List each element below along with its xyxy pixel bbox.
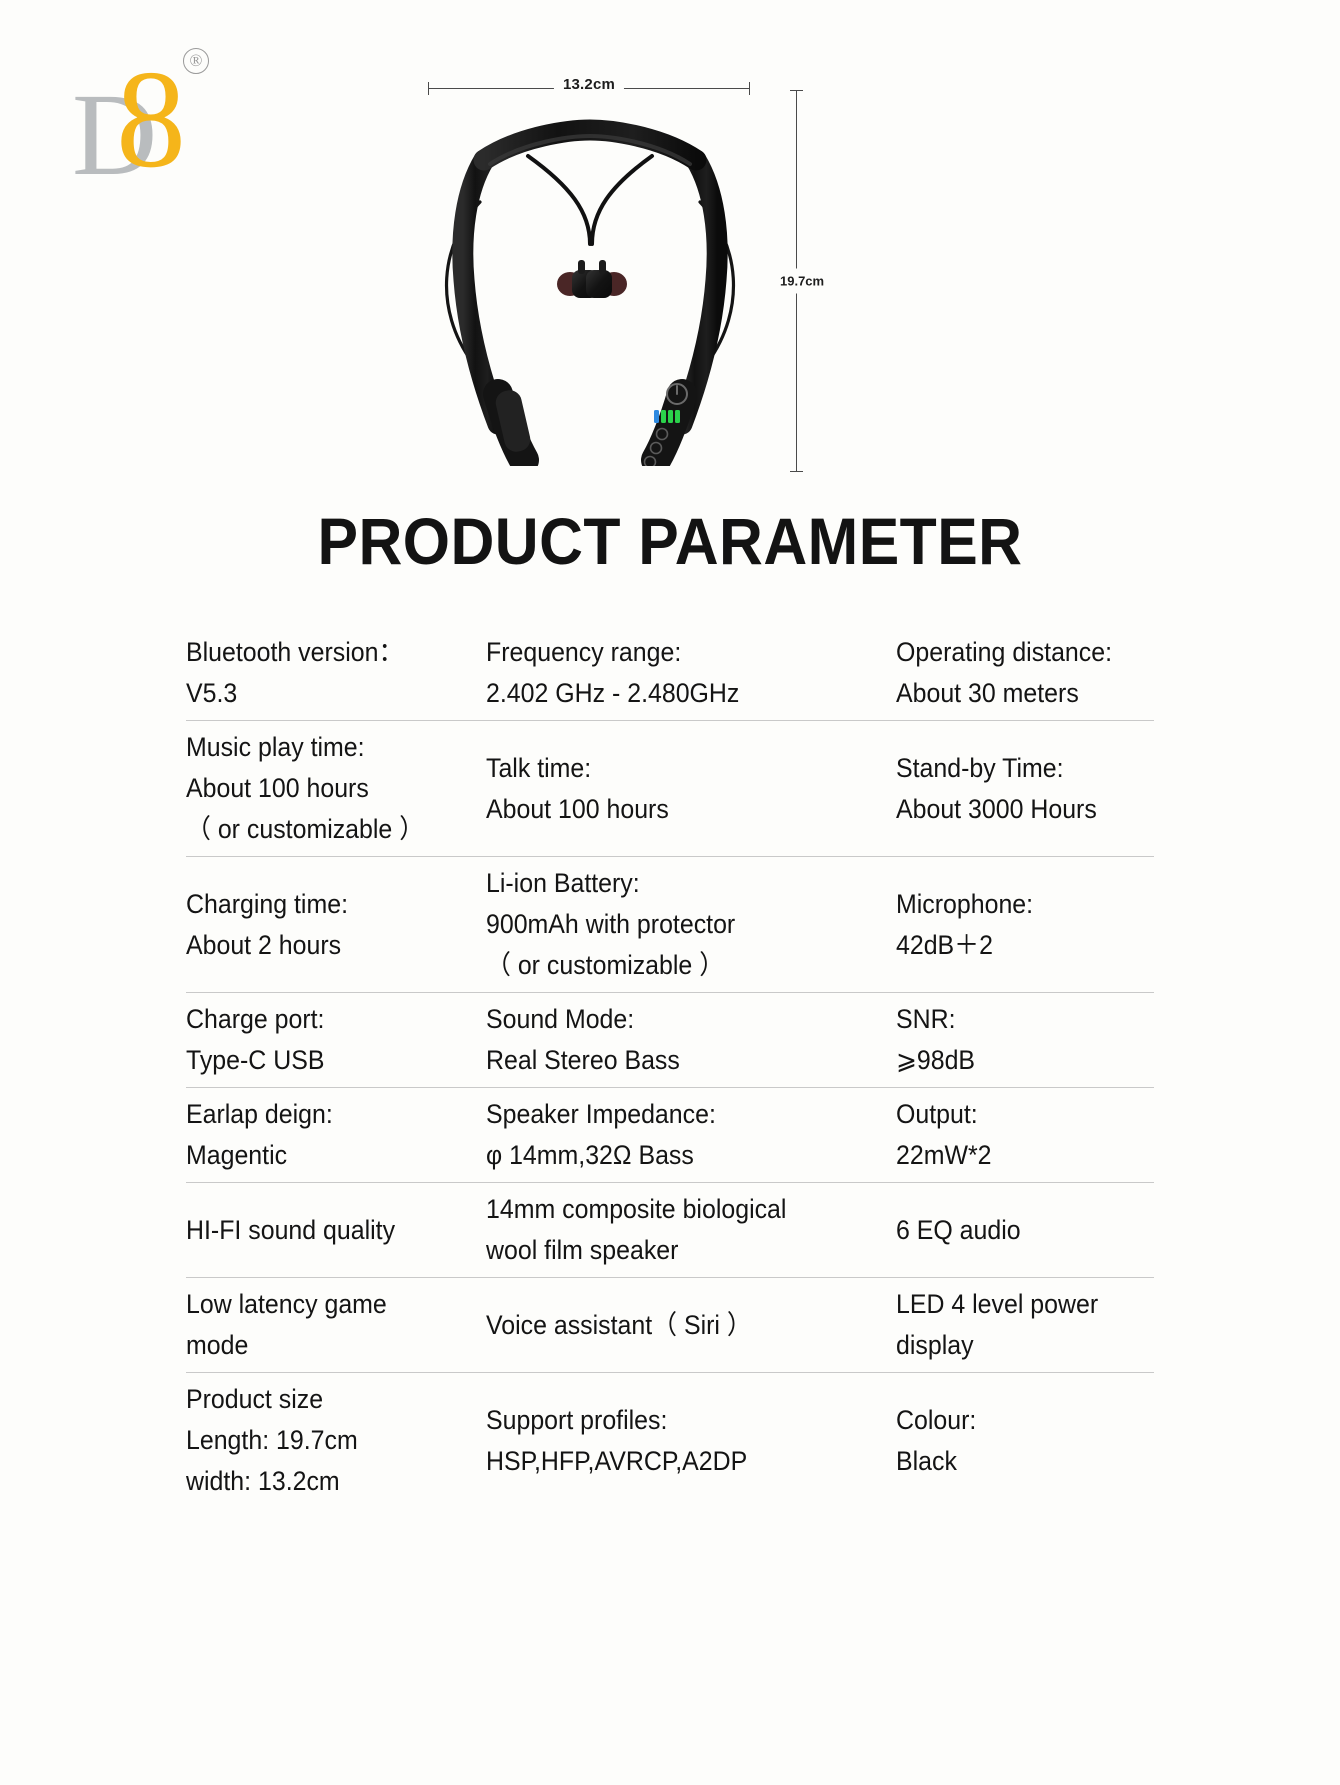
spec-value: Black <box>896 1441 1125 1482</box>
product-image-area: 13.2cm 19.7cm <box>400 60 830 480</box>
spec-label: 14mm composite biological <box>486 1189 858 1230</box>
spec-music-play-time: Music play time: About 100 hours （ or cu… <box>186 727 468 850</box>
spec-label: 6 EQ audio <box>896 1210 1125 1251</box>
dimension-height-label: 19.7cm <box>780 269 824 294</box>
table-row: Music play time: About 100 hours （ or cu… <box>186 720 1154 856</box>
spec-label: Operating distance: <box>896 632 1125 673</box>
spec-value: display <box>896 1325 1125 1366</box>
spec-charging-time: Charging time: About 2 hours <box>186 884 468 966</box>
spec-label: Charging time: <box>186 884 455 925</box>
spec-value: About 100 hours <box>186 768 455 809</box>
spec-value: Magentic <box>186 1135 455 1176</box>
spec-label: Talk time: <box>486 748 858 789</box>
spec-sound-mode: Sound Mode: Real Stereo Bass <box>486 999 871 1081</box>
dimension-width-label: 13.2cm <box>554 76 624 93</box>
spec-label: LED 4 level power <box>896 1284 1125 1325</box>
spec-microphone: Microphone: 42dB＋2 <box>896 884 1139 966</box>
product-parameter-sheet: D 8 ® 13.2cm 19.7cm <box>0 0 1340 1785</box>
spec-support-profiles: Support profiles: HSP,HFP,AVRCP,A2DP <box>486 1400 871 1482</box>
spec-value: ⩾98dB <box>896 1040 1125 1081</box>
spec-label: Voice assistant（ Siri ） <box>486 1305 858 1346</box>
spec-eq-audio: 6 EQ audio <box>896 1210 1139 1251</box>
logo-letter-8: 8 <box>116 50 186 190</box>
table-row: Charge port: Type-C USB Sound Mode: Real… <box>186 992 1154 1087</box>
spec-label: Music play time: <box>186 727 455 768</box>
spec-value: 22mW*2 <box>896 1135 1125 1176</box>
spec-label: Sound Mode: <box>486 999 858 1040</box>
spec-colour: Colour: Black <box>896 1400 1139 1482</box>
spec-operating-distance: Operating distance: About 30 meters <box>896 632 1139 714</box>
spec-label: Product size <box>186 1379 455 1420</box>
spec-bluetooth-version: Bluetooth version： V5.3 <box>186 632 468 714</box>
specification-table: Bluetooth version： V5.3 Frequency range:… <box>186 625 1154 1508</box>
spec-voice-assistant: Voice assistant（ Siri ） <box>486 1305 871 1346</box>
table-row: HI-FI sound quality 14mm composite biolo… <box>186 1182 1154 1277</box>
spec-value: 42dB＋2 <box>896 925 1125 966</box>
spec-product-size: Product size Length: 19.7cm width: 13.2c… <box>186 1379 468 1502</box>
table-row: Bluetooth version： V5.3 Frequency range:… <box>186 625 1154 720</box>
spec-output: Output: 22mW*2 <box>896 1094 1139 1176</box>
neckband-headset-icon <box>420 94 760 466</box>
table-row: Charging time: About 2 hours Li-ion Batt… <box>186 856 1154 992</box>
page-title: PRODUCT PARAMETER <box>54 505 1287 577</box>
spec-value-note: （ or customizable ） <box>486 945 858 986</box>
spec-label: Colour: <box>896 1400 1125 1441</box>
spec-low-latency-game-mode: Low latency game mode <box>186 1284 468 1366</box>
registered-trademark-icon: ® <box>183 48 209 74</box>
spec-earlap-design: Earlap deign: Magentic <box>186 1094 468 1176</box>
spec-value-note: width: 13.2cm <box>186 1461 455 1502</box>
brand-logo: D 8 ® <box>68 38 298 188</box>
dimension-height-cap-bottom <box>790 471 803 472</box>
spec-label: Speaker Impedance: <box>486 1094 858 1135</box>
spec-hifi-sound-quality: HI-FI sound quality <box>186 1210 468 1251</box>
spec-talk-time: Talk time: About 100 hours <box>486 748 871 830</box>
spec-snr: SNR: ⩾98dB <box>896 999 1139 1081</box>
table-row: Low latency game mode Voice assistant（ S… <box>186 1277 1154 1372</box>
spec-value: φ 14mm,32Ω Bass <box>486 1135 858 1176</box>
spec-label: Output: <box>896 1094 1125 1135</box>
spec-label: Low latency game <box>186 1284 455 1325</box>
spec-speaker-material: 14mm composite biological wool film spea… <box>486 1189 871 1271</box>
spec-label: Frequency range: <box>486 632 858 673</box>
spec-value: About 30 meters <box>896 673 1125 714</box>
spec-label: Support profiles: <box>486 1400 858 1441</box>
spec-value: V5.3 <box>186 673 455 714</box>
spec-value: 2.402 GHz - 2.480GHz <box>486 673 858 714</box>
spec-value: wool film speaker <box>486 1230 858 1271</box>
spec-label: SNR: <box>896 999 1125 1040</box>
spec-charge-port: Charge port: Type-C USB <box>186 999 468 1081</box>
spec-label: Charge port: <box>186 999 455 1040</box>
dimension-height-cap-top <box>790 90 803 91</box>
spec-value: About 100 hours <box>486 789 858 830</box>
spec-label: Microphone: <box>896 884 1125 925</box>
spec-label: Stand-by Time: <box>896 748 1125 789</box>
spec-led-power-display: LED 4 level power display <box>896 1284 1139 1366</box>
spec-value: HSP,HFP,AVRCP,A2DP <box>486 1441 858 1482</box>
spec-frequency-range: Frequency range: 2.402 GHz - 2.480GHz <box>486 632 871 714</box>
spec-li-ion-battery: Li-ion Battery: 900mAh with protector （ … <box>486 863 871 986</box>
dimension-height-callout: 19.7cm <box>784 90 808 472</box>
spec-label: Li-ion Battery: <box>486 863 858 904</box>
spec-value: About 3000 Hours <box>896 789 1125 830</box>
spec-value: Type-C USB <box>186 1040 455 1081</box>
table-row: Product size Length: 19.7cm width: 13.2c… <box>186 1372 1154 1508</box>
spec-value: Length: 19.7cm <box>186 1420 455 1461</box>
spec-speaker-impedance: Speaker Impedance: φ 14mm,32Ω Bass <box>486 1094 871 1176</box>
spec-value-note: （ or customizable ） <box>186 809 455 850</box>
spec-label: Earlap deign: <box>186 1094 455 1135</box>
spec-value: mode <box>186 1325 455 1366</box>
table-row: Earlap deign: Magentic Speaker Impedance… <box>186 1087 1154 1182</box>
spec-stand-by-time: Stand-by Time: About 3000 Hours <box>896 748 1139 830</box>
spec-value: Real Stereo Bass <box>486 1040 858 1081</box>
spec-value: About 2 hours <box>186 925 455 966</box>
spec-label: HI-FI sound quality <box>186 1210 455 1251</box>
spec-value: 900mAh with protector <box>486 904 858 945</box>
spec-label: Bluetooth version： <box>186 632 455 673</box>
